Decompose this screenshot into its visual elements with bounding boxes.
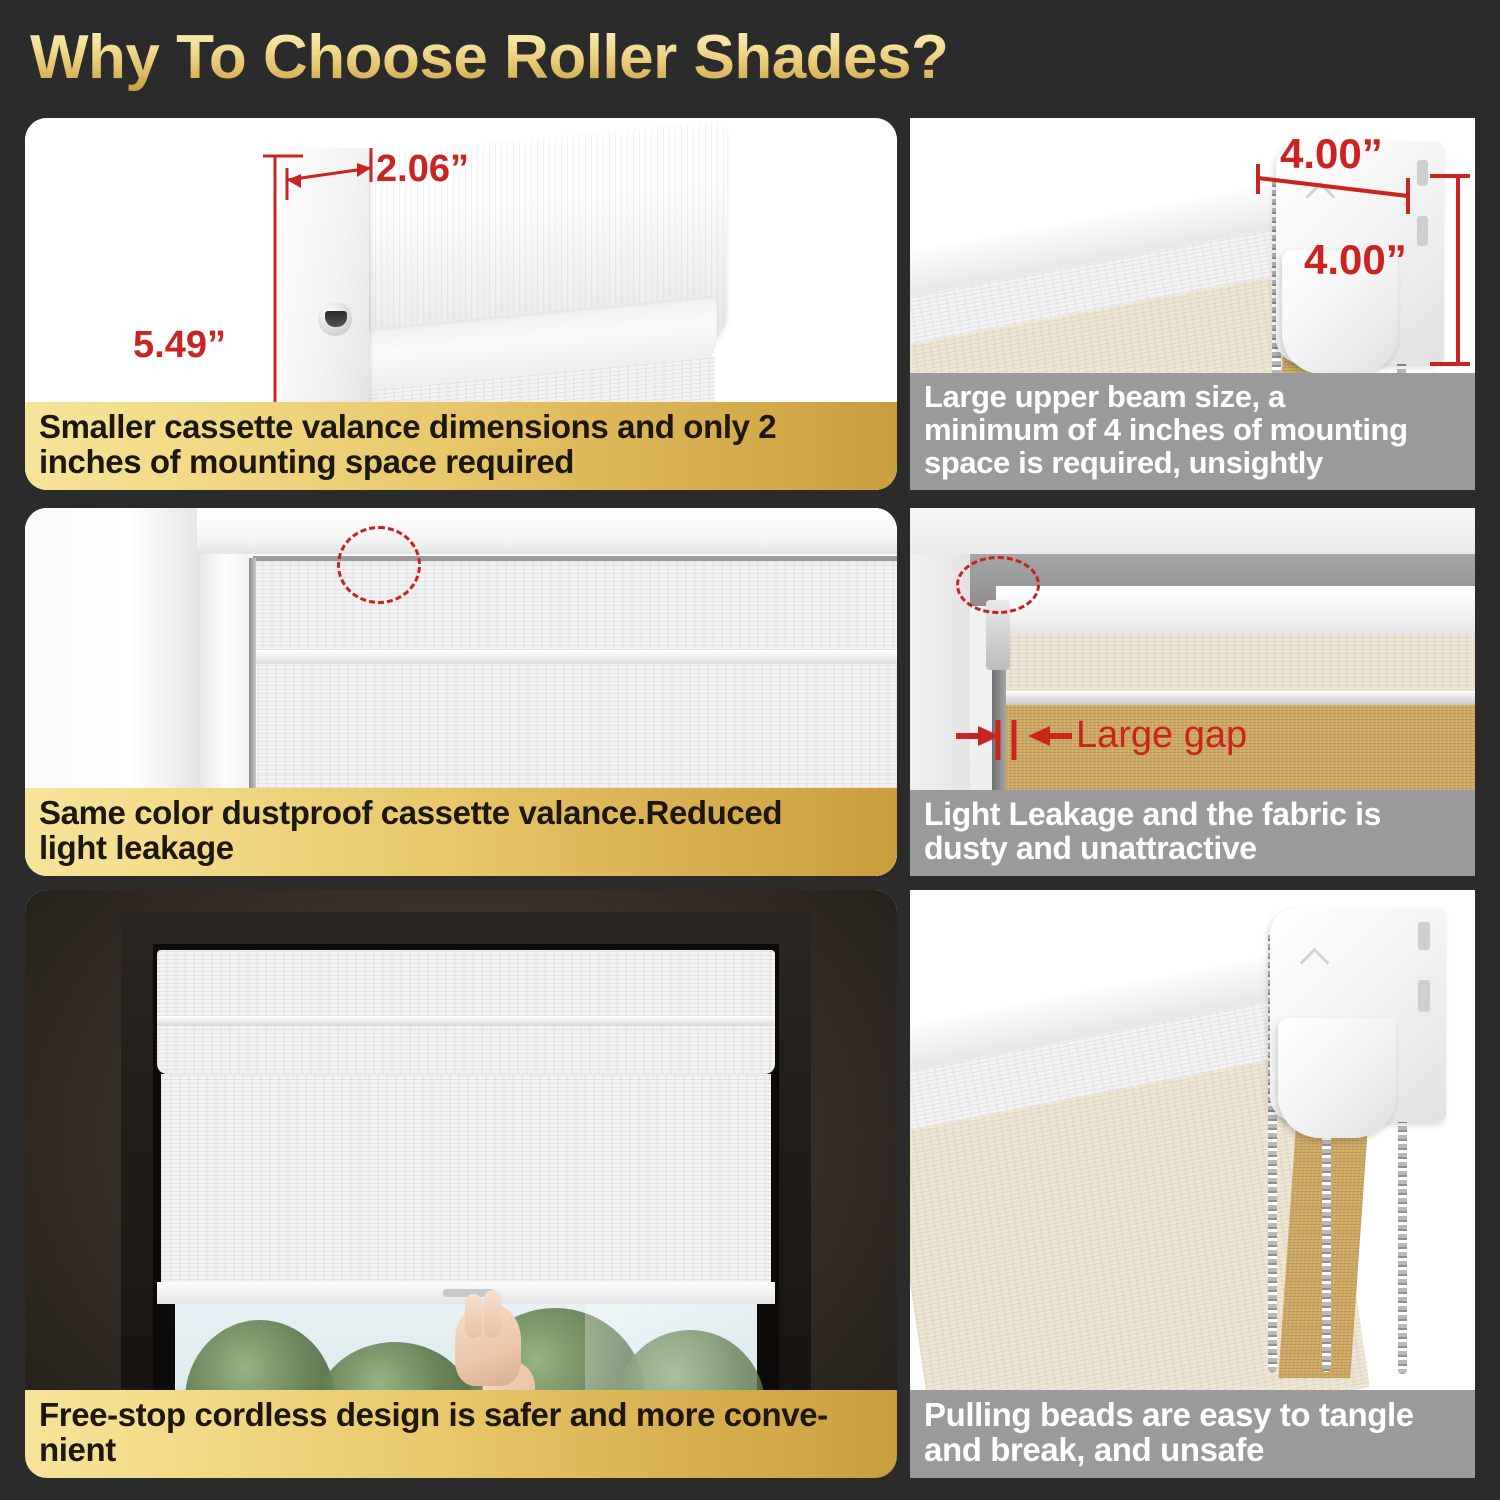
caption-line: Free-stop cordless design is safer and m… [39, 1398, 883, 1433]
caption-pulling-beads: Pulling beads are easy to tangle and bre… [910, 1390, 1475, 1478]
caption-light-leakage: Light Leakage and the fabric is dusty an… [910, 790, 1475, 876]
valance-lower-lip [157, 1026, 775, 1074]
caption-line: Light Leakage and the fabric is [924, 798, 1461, 832]
panel-light-leakage: Large gap Light Leakage and the fabric i… [910, 508, 1475, 876]
caption-dustproof-valance: Same color dustproof cassette valance.Re… [25, 788, 897, 876]
caption-line: minimum of 4 inches of mounting [924, 414, 1461, 447]
caption-line: Large upper beam size, a [924, 381, 1461, 414]
finger [484, 1290, 501, 1338]
valance-seam [157, 1016, 775, 1026]
dimension-label-beam-height: 4.00” [1304, 236, 1407, 284]
caption-line: light leakage [39, 831, 883, 866]
panel-smaller-cassette: 2.06” 5.49” Smaller cassette valance dim… [25, 118, 897, 490]
caption-cordless-design: Free-stop cordless design is safer and m… [25, 1390, 897, 1478]
dimension-label-width: 2.06” [376, 148, 469, 191]
caption-line: and break, and unsafe [924, 1433, 1461, 1468]
panel-cordless-design: Free-stop cordless design is safer and m… [25, 890, 897, 1478]
panel-large-upper-beam: 4.00” 4.00” Large upper beam size, a min… [910, 118, 1475, 490]
caption-large-upper-beam: Large upper beam size, a minimum of 4 in… [910, 373, 1475, 490]
comparison-grid: 2.06” 5.49” Smaller cassette valance dim… [0, 0, 1500, 1500]
caption-line: inches of mounting space required [39, 445, 883, 480]
bead-chain [1398, 1096, 1407, 1374]
finger [465, 1294, 482, 1338]
caption-line: Smaller cassette valance dimensions and … [39, 410, 883, 445]
infographic-page: Why To Choose Roller Shades? [0, 0, 1500, 1500]
cassette-valance-face [157, 950, 775, 1020]
panel-dustproof-valance: smaller gap Same color dustproof cassett… [25, 508, 897, 876]
gap-label-large: Large gap [1076, 714, 1247, 757]
dimension-label-height: 5.49” [133, 324, 226, 367]
caption-line: Pulling beads are easy to tangle [924, 1398, 1461, 1433]
caption-line: Same color dustproof cassette valance.Re… [39, 796, 883, 831]
dimension-label-beam-width: 4.00” [1280, 130, 1383, 178]
mounting-bracket-lower [1278, 1018, 1396, 1138]
caption-line: dusty and unattractive [924, 832, 1461, 866]
caption-line: space is required, unsightly [924, 447, 1461, 480]
caption-smaller-cassette: Smaller cassette valance dimensions and … [25, 402, 897, 490]
caption-line: nient [39, 1433, 883, 1468]
shade-fabric [161, 1074, 771, 1296]
panel-pulling-beads: Pulling beads are easy to tangle and bre… [910, 890, 1475, 1478]
